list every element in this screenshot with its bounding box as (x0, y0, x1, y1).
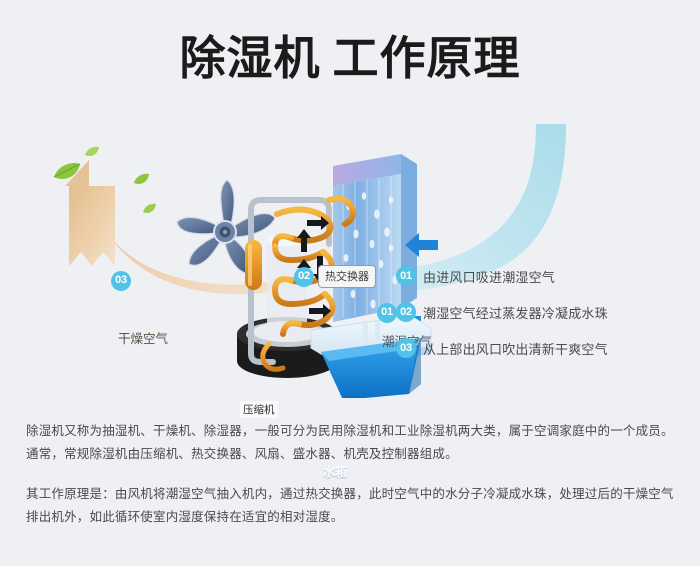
badge-02: 02 (294, 267, 314, 287)
description-paragraph-1: 除湿机又称为抽湿机、干燥机、除湿器，一般可分为民用除湿机和工业除湿机两大类，属于… (26, 420, 676, 466)
humid-air-badge: 01 (377, 302, 397, 323)
dry-air-label: 干燥空气 (118, 328, 168, 347)
badge-03: 03 (111, 271, 131, 291)
page-title: 除湿机工作原理 (0, 30, 700, 86)
leaf-icon (52, 161, 82, 183)
leaf-icon (84, 146, 100, 158)
leaf-icon (142, 203, 157, 215)
legend-text-03: 从上部出风口吹出清新干爽空气 (423, 339, 608, 358)
page-title-part2: 工作原理 (333, 32, 521, 84)
heat-exchanger-callout: 热交换器 (318, 265, 376, 288)
description-block: 除湿机又称为抽湿机、干燥机、除湿器，一般可分为民用除湿机和工业除湿机两大类，属于… (26, 420, 676, 529)
description-paragraph-2: 其工作原理是：由风机将潮湿空气抽入机内，通过热交换器，此时空气中的水分子冷凝成水… (26, 483, 676, 529)
dry-air-badge: 03 (111, 270, 131, 291)
legend-text-02: 潮湿空气经过蒸发器冷凝成水珠 (423, 303, 608, 322)
legend-badge-02: 02 (396, 302, 416, 322)
legend-text-01: 由进风口吸进潮湿空气 (423, 267, 555, 286)
heat-exchanger-badge: 02 (294, 266, 314, 287)
legend-item-03: 03 从上部出风口吹出清新干爽空气 (396, 330, 686, 366)
legend-item-01: 01 由进风口吸进潮湿空气 (396, 258, 686, 294)
badge-01: 01 (377, 303, 397, 323)
legend-item-02: 02 潮湿空气经过蒸发器冷凝成水珠 (396, 294, 686, 330)
legend-list: 01 由进风口吸进潮湿空气 02 潮湿空气经过蒸发器冷凝成水珠 03 从上部出风… (396, 258, 686, 366)
page-title-part1: 除湿机 (180, 32, 321, 84)
leaf-icon (133, 173, 150, 186)
legend-badge-01: 01 (396, 266, 416, 286)
legend-badge-03: 03 (396, 338, 416, 358)
compressor-label: 压缩机 (240, 401, 278, 418)
